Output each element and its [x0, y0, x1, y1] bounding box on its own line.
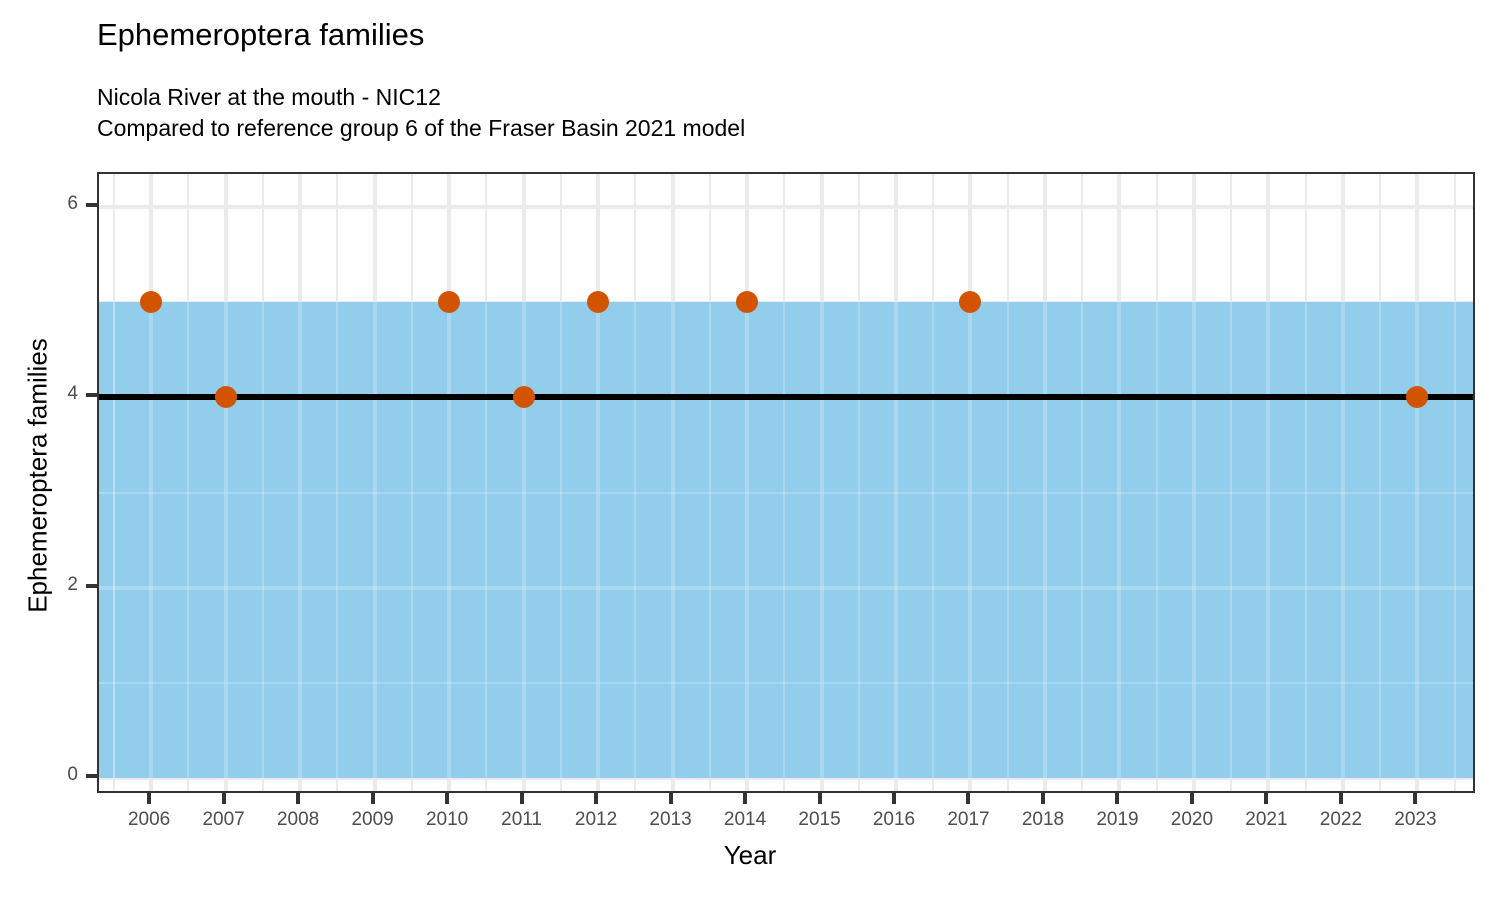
band-gridline-vertical-major [1043, 302, 1047, 777]
band-gridline-vertical-minor [411, 302, 413, 777]
y-axis-title: Ephemeroptera families [23, 166, 54, 786]
band-gridline-vertical-major [224, 302, 228, 777]
band-gridline-vertical-minor [1007, 302, 1009, 777]
band-gridline-vertical-minor [1156, 302, 1158, 777]
band-gridline-vertical-minor [113, 302, 115, 777]
x-axis-tick [818, 793, 822, 804]
x-axis-tick [1413, 793, 1417, 804]
band-gridline-vertical-major [1341, 302, 1345, 777]
x-axis-tick [520, 793, 524, 804]
band-gridline-vertical-major [1415, 302, 1419, 777]
x-axis-tick [1041, 793, 1045, 804]
plot-panel [97, 172, 1475, 793]
band-gridline-vertical-major [745, 302, 749, 777]
x-axis-tick [1190, 793, 1194, 804]
band-gridline-vertical-minor [932, 302, 934, 777]
x-axis-tick [594, 793, 598, 804]
reference-line [99, 394, 1473, 400]
band-gridline-vertical-minor [1305, 302, 1307, 777]
band-gridline-vertical-minor [336, 302, 338, 777]
band-gridline-vertical-minor [560, 302, 562, 777]
band-gridline-vertical-major [447, 302, 451, 777]
band-gridline-vertical-major [596, 302, 600, 777]
band-gridline-vertical-major [149, 302, 153, 777]
x-axis-tick [371, 793, 375, 804]
x-axis-tick [296, 793, 300, 804]
y-axis-ticklabel: 6 [18, 193, 78, 215]
chart-subtitle: Nicola River at the mouth - NIC12 Compar… [97, 82, 745, 144]
y-axis-tick [86, 584, 97, 588]
y-axis-tick [86, 393, 97, 397]
band-gridline-vertical-major [373, 302, 377, 777]
band-gridline-horizontal-major [99, 586, 1473, 590]
band-gridline-vertical-major [298, 302, 302, 777]
band-gridline-vertical-minor [187, 302, 189, 777]
y-axis-ticklabel: 0 [18, 764, 78, 786]
band-gridline-vertical-minor [1081, 302, 1083, 777]
band-gridline-vertical-minor [1454, 302, 1456, 777]
band-gridline-vertical-minor [1230, 302, 1232, 777]
x-axis-tick [1339, 793, 1343, 804]
band-gridline-vertical-minor [634, 302, 636, 777]
band-gridline-vertical-major [894, 302, 898, 777]
band-gridline-vertical-minor [709, 302, 711, 777]
y-axis-ticklabel: 2 [18, 574, 78, 596]
band-gridline-vertical-minor [783, 302, 785, 777]
x-axis-tick [222, 793, 226, 804]
chart-figure: Ephemeroptera families Nicola River at t… [0, 0, 1500, 900]
reference-band [99, 302, 1473, 777]
data-point[interactable] [513, 386, 535, 408]
y-axis-tick [86, 203, 97, 207]
y-axis-ticklabel: 4 [18, 383, 78, 405]
band-gridline-horizontal-minor [99, 682, 1473, 684]
x-axis-tick [966, 793, 970, 804]
band-gridline-vertical-major [671, 302, 675, 777]
x-axis-tick [669, 793, 673, 804]
band-gridline-vertical-minor [858, 302, 860, 777]
x-axis-tick [892, 793, 896, 804]
x-axis-tick [1115, 793, 1119, 804]
band-gridline-vertical-minor [1379, 302, 1381, 777]
band-gridline-vertical-major [820, 302, 824, 777]
x-axis-tick [147, 793, 151, 804]
band-gridline-vertical-minor [485, 302, 487, 777]
x-axis-title: Year [0, 840, 1500, 871]
chart-title: Ephemeroptera families [97, 16, 424, 54]
x-axis-tick [743, 793, 747, 804]
band-gridline-vertical-major [1117, 302, 1121, 777]
band-gridline-vertical-major [1266, 302, 1270, 777]
data-point[interactable] [215, 386, 237, 408]
plot-panel-wrap [97, 172, 1475, 793]
x-axis-tick [445, 793, 449, 804]
band-gridline-horizontal-minor [99, 492, 1473, 494]
x-axis-tick [1264, 793, 1268, 804]
band-gridline-vertical-major [522, 302, 526, 777]
gridline-horizontal-major [99, 205, 1473, 209]
band-gridline-vertical-minor [262, 302, 264, 777]
band-gridline-vertical-major [968, 302, 972, 777]
band-gridline-vertical-major [1192, 302, 1196, 777]
x-axis-ticklabel: 2023 [1370, 809, 1460, 831]
y-axis-tick [86, 774, 97, 778]
